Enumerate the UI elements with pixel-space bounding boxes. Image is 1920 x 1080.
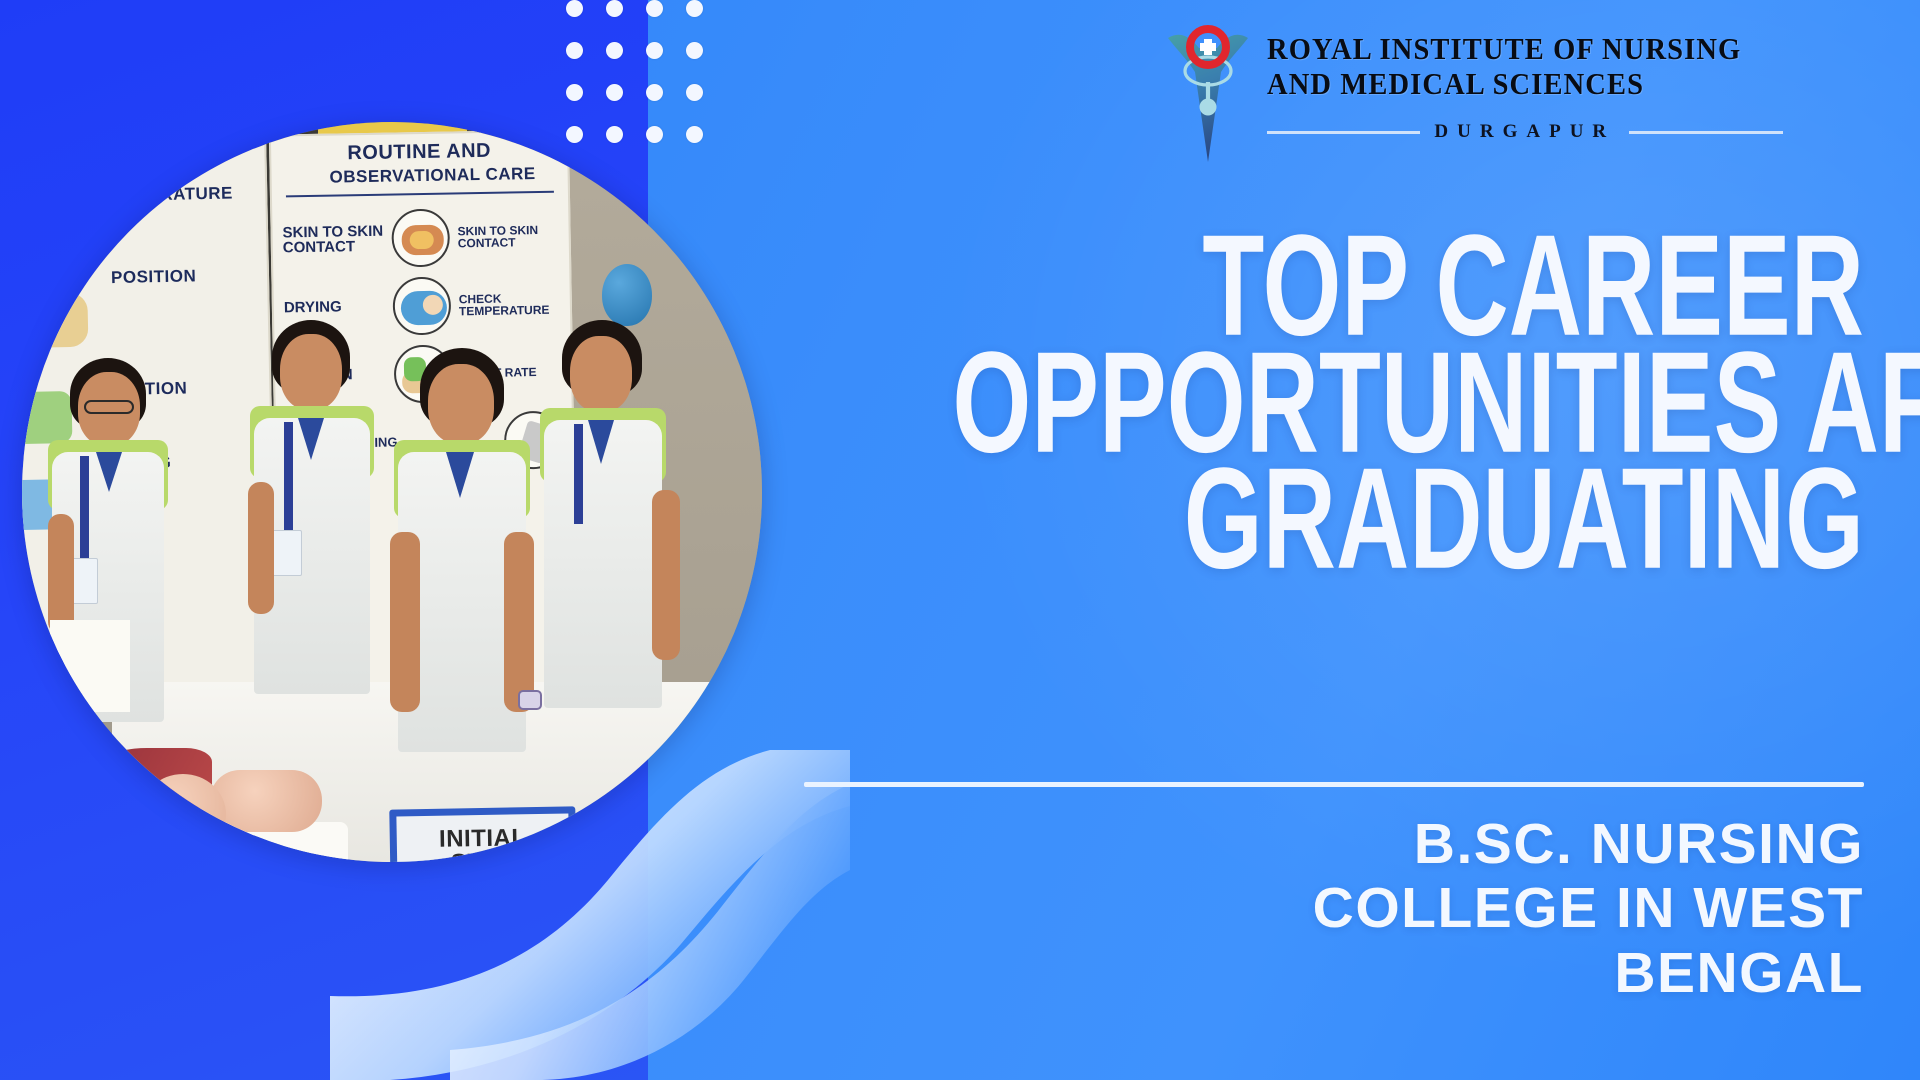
poster-row-label: DRYING [284,299,385,316]
caduceus-logo-icon [1165,14,1251,164]
dot [566,0,583,17]
poster-label-position: POSITION [111,266,197,288]
infant-manikin-body [210,770,322,832]
photo-content: TEMPERATURE POSITION SUCTION DRYING ROUT… [22,122,762,862]
poster-row: SKIN TO SKIN CONTACT SKIN TO SKIN CONTAC… [272,200,569,273]
city-rule-left [1267,131,1420,134]
poster-canvas: TEMPERATURE POSITION SUCTION DRYING ROUT… [0,0,1920,1080]
institute-name-line-2: AND MEDICAL SCIENCES [1267,67,1741,102]
wristwatch-icon [518,690,542,710]
poster-label-temperature: TEMPERATURE [99,184,233,207]
poster-row-label-right: CHECK TEMPERATURE [459,291,560,317]
poster-title-rule [286,191,554,198]
initial-step-sign: INITIAL STEP [389,806,576,862]
drying-icon [392,276,451,335]
dot [686,42,703,59]
sign-line-2: STEP [451,850,516,862]
headline-block: TOP CAREER OPPORTUNITIES AFTER GRADUATIN… [804,232,1864,582]
infant-manikin-head [140,774,226,854]
poster-row-label: SKIN TO SKIN CONTACT [282,223,384,255]
poster-illus-suction [22,391,72,444]
feature-photo-circle: TEMPERATURE POSITION SUCTION DRYING ROUT… [22,122,762,862]
skin-to-skin-icon [391,208,450,267]
city-row: DURGAPUR [1267,121,1783,143]
city-rule-right [1629,131,1782,134]
dot [686,84,703,101]
held-papers [50,620,130,712]
headline-divider [804,782,1864,787]
dot [646,84,663,101]
dot [646,42,663,59]
institute-logo: ROYAL INSTITUTE OF NURSING AND MEDICAL S… [1165,14,1783,164]
dot [686,0,703,17]
city-label: DURGAPUR [1434,121,1615,143]
subheading-line-2: COLLEGE IN WEST [804,876,1864,940]
dot [566,42,583,59]
dot [566,84,583,101]
eyeglasses-icon [84,400,134,414]
initial-step-sign-inner: INITIAL STEP [396,814,569,862]
headline-line-3: GRADUATING [952,453,1864,585]
dot [606,0,623,17]
blue-balloon-far [602,264,652,326]
poster-row-label-right: SKIN TO SKIN CONTACT [457,223,558,249]
subheading-line-3: BENGAL [804,941,1864,1005]
poster-illus-position [22,293,88,349]
poster-title-line2: OBSERVATIONAL CARE [271,164,567,191]
dot [646,0,663,17]
dot [606,84,623,101]
subheading-line-1: B.SC. NURSING [804,812,1864,876]
institute-logo-text: ROYAL INSTITUTE OF NURSING AND MEDICAL S… [1267,14,1783,143]
subheading-block: B.SC. NURSING COLLEGE IN WEST BENGAL [804,812,1864,1005]
dot [606,42,623,59]
institute-name-line-1: ROYAL INSTITUTE OF NURSING [1267,32,1741,67]
